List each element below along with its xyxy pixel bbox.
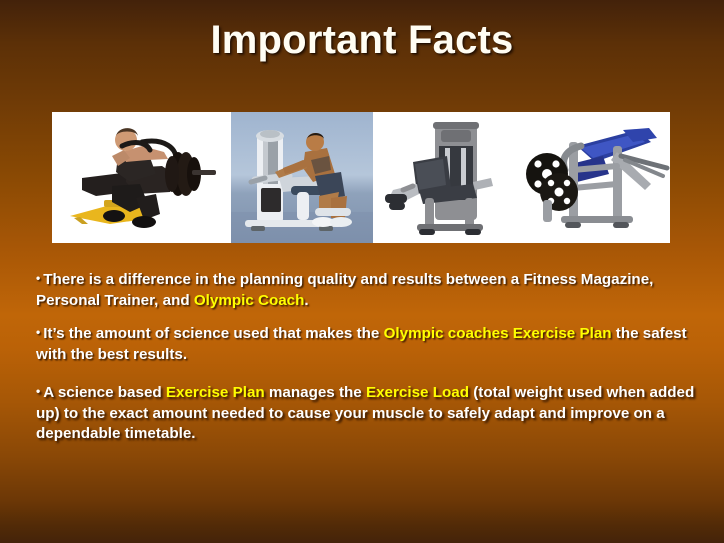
highlighted-term: Olympic Coach: [194, 292, 305, 309]
leg-machine-art: [231, 112, 373, 243]
photo-strip: [52, 112, 670, 243]
bullet-item-1: •There is a difference in the planning q…: [36, 268, 696, 311]
bullet-item-2: •It’s the amount of science used that ma…: [36, 322, 696, 365]
photo-leg-extension-machine: [373, 112, 525, 243]
bullet-text: .: [304, 292, 308, 309]
bullet-text: It’s the amount of science used that mak…: [43, 325, 383, 342]
bullet-text: manages the: [265, 384, 366, 401]
highlighted-term: Exercise Load: [366, 384, 469, 401]
photo-seated-bench-press-machine-with-athlete: [52, 112, 231, 243]
bullet-text: There is a difference in the planning qu…: [36, 271, 653, 309]
highlighted-term: Olympic coaches Exercise Plan: [384, 325, 612, 342]
photo-plate-loaded-incline-press-machine: [525, 112, 670, 243]
slide-canvas: Important Facts: [0, 0, 724, 543]
bullet-item-3: •A science based Exercise Plan manages t…: [36, 381, 696, 445]
bullet-list: •There is a difference in the planning q…: [36, 268, 696, 456]
highlighted-term: Exercise Plan: [166, 384, 265, 401]
bench-press-machine-art: [52, 112, 231, 243]
plate-loaded-press-machine-art: [525, 112, 670, 243]
leg-extension-machine-art: [373, 112, 525, 243]
page-title: Important Facts: [0, 18, 724, 63]
photo-seated-leg-machine-with-athlete: [231, 112, 373, 243]
bullet-text: A science based: [43, 384, 166, 401]
